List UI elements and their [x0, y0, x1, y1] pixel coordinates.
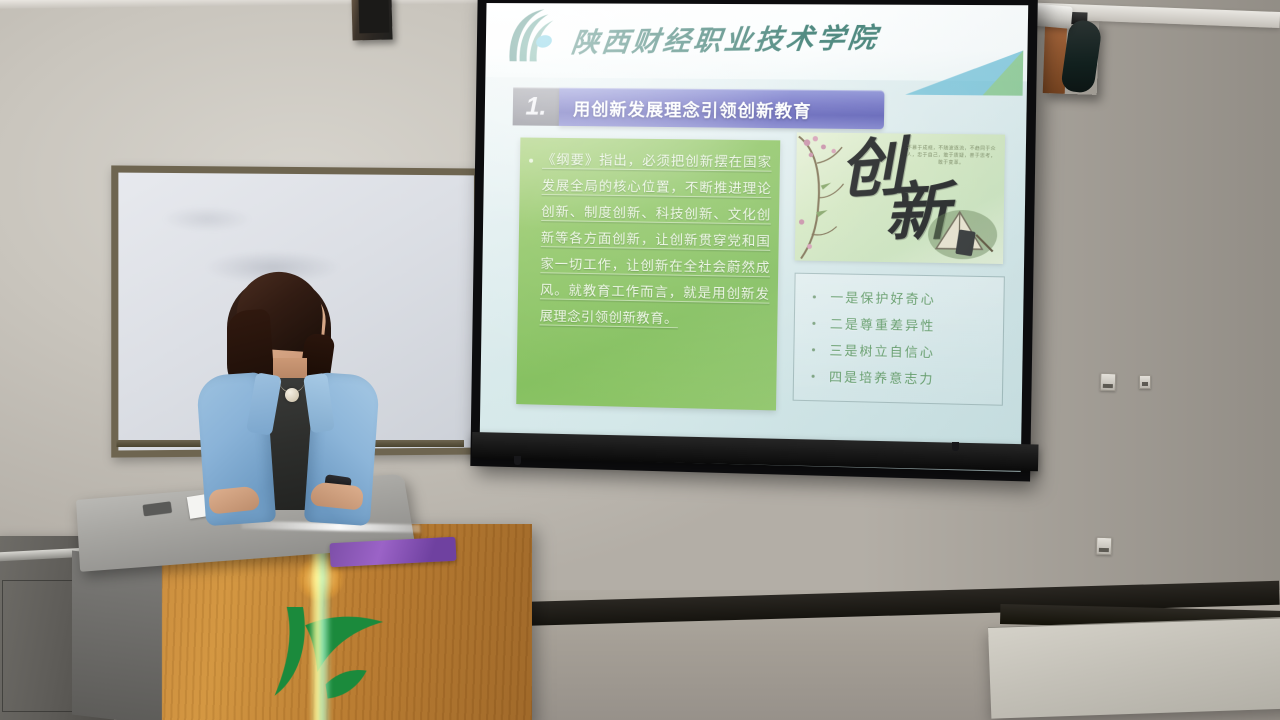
innovation-calligraphy-image: 创 新 不慕于成规，不随波逐流，不趋同于众人，忠于自己，敢于质疑，善于思考，敢于…: [795, 132, 1005, 264]
presenter: [185, 270, 385, 525]
wall-speaker-right: [1043, 19, 1100, 95]
screen-hook: [514, 456, 521, 465]
slide-content-box: 《纲要》指出，必须把创新摆在国家发展全局的核心位置，不断推进理论创新、制度创新、…: [516, 137, 780, 410]
classroom-photo-scene: ThinkShow 陕西财经职业技术学院 1. 用创新发展理念引领创新教育: [0, 0, 1280, 720]
lecture-podium-side: [72, 550, 162, 720]
wall-socket[interactable]: [1100, 373, 1117, 392]
student-desk: [988, 618, 1280, 718]
slide-title-row: 1. 用创新发展理念引领创新教育: [513, 87, 885, 129]
institution-name: 陕西财经职业技术学院: [570, 15, 882, 60]
institution-leaf-logo: [504, 7, 567, 66]
screen-hook: [952, 442, 959, 451]
slide-title: 用创新发展理念引领创新教育: [559, 88, 885, 130]
slide-bullet-box: 一是保护好奇心 二是尊重差异性 三是树立自信心 四是培养意志力: [793, 273, 1005, 406]
slide-body-text: 《纲要》指出，必须把创新摆在国家发展全局的核心位置，不断推进理论创新、制度创新、…: [539, 148, 771, 335]
wall-socket[interactable]: [1096, 537, 1113, 556]
powerpoint-slide: 陕西财经职业技术学院 1. 用创新发展理念引领创新教育 《纲要》指出，必须把创新…: [479, 3, 1028, 472]
calligraphy-caption: 不慕于成规，不随波逐流，不趋同于众人，忠于自己，敢于质疑，善于思考，敢于变革。: [906, 144, 996, 167]
slide-header: 陕西财经职业技术学院: [485, 3, 1028, 81]
speaker-grille-icon: [358, 0, 389, 33]
corner-accent-triangle-green: [983, 50, 1024, 95]
slide-bullet-list: 一是保护好奇心 二是尊重差异性 三是树立自信心 四是培养意志力: [794, 274, 1004, 395]
podium-cable-port: [142, 501, 172, 516]
bullet-dot-icon: [529, 159, 533, 163]
open-book-icon: [928, 203, 998, 259]
list-item: 四是培养意志力: [798, 363, 1002, 394]
wall-speaker-left: [351, 0, 392, 41]
slide-number-badge: 1.: [513, 87, 560, 126]
whiteboard-smudge: [162, 206, 252, 231]
list-item: 一是保护好奇心: [799, 284, 1003, 314]
wall-switch[interactable]: [1139, 375, 1151, 389]
necklace-pendant: [285, 388, 299, 402]
projection-screen[interactable]: 陕西财经职业技术学院 1. 用创新发展理念引领创新教育 《纲要》指出，必须把创新…: [470, 0, 1038, 482]
